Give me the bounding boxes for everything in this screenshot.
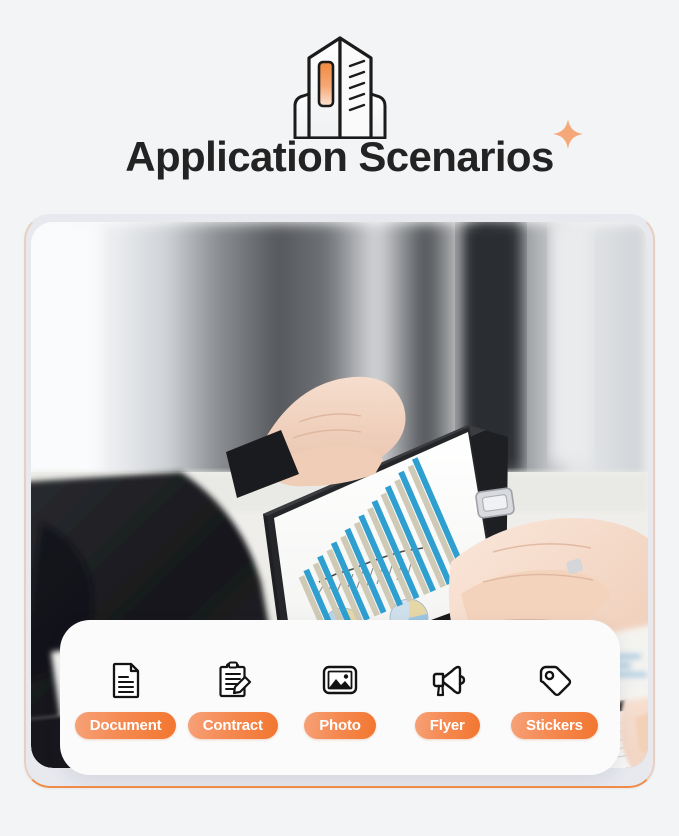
category-item-stickers[interactable]: Stickers <box>501 657 608 739</box>
page-root: Application Scenarios <box>0 0 679 836</box>
category-label-photo[interactable]: Photo <box>304 712 376 739</box>
document-icon <box>103 657 149 703</box>
image-icon <box>317 657 363 703</box>
category-label-flyer[interactable]: Flyer <box>415 712 480 739</box>
page-header: Application Scenarios <box>0 0 679 210</box>
showcase-card: Document <box>24 214 655 788</box>
clipboard-pencil-icon <box>210 657 256 703</box>
building-icon <box>275 34 405 139</box>
title-row: Application Scenarios <box>0 130 679 184</box>
category-row: Document <box>60 620 620 775</box>
megaphone-icon <box>424 657 470 703</box>
category-card: Document <box>60 620 620 775</box>
category-item-photo[interactable]: Photo <box>286 657 393 739</box>
category-label-document[interactable]: Document <box>75 712 177 739</box>
category-label-stickers[interactable]: Stickers <box>511 712 598 739</box>
sparkle-icon <box>550 116 586 152</box>
category-item-flyer[interactable]: Flyer <box>394 657 501 739</box>
category-item-document[interactable]: Document <box>72 657 179 739</box>
category-label-contract[interactable]: Contract <box>188 712 278 739</box>
category-item-contract[interactable]: Contract <box>179 657 286 739</box>
page-title: Application Scenarios <box>125 130 554 184</box>
tag-icon <box>531 657 577 703</box>
